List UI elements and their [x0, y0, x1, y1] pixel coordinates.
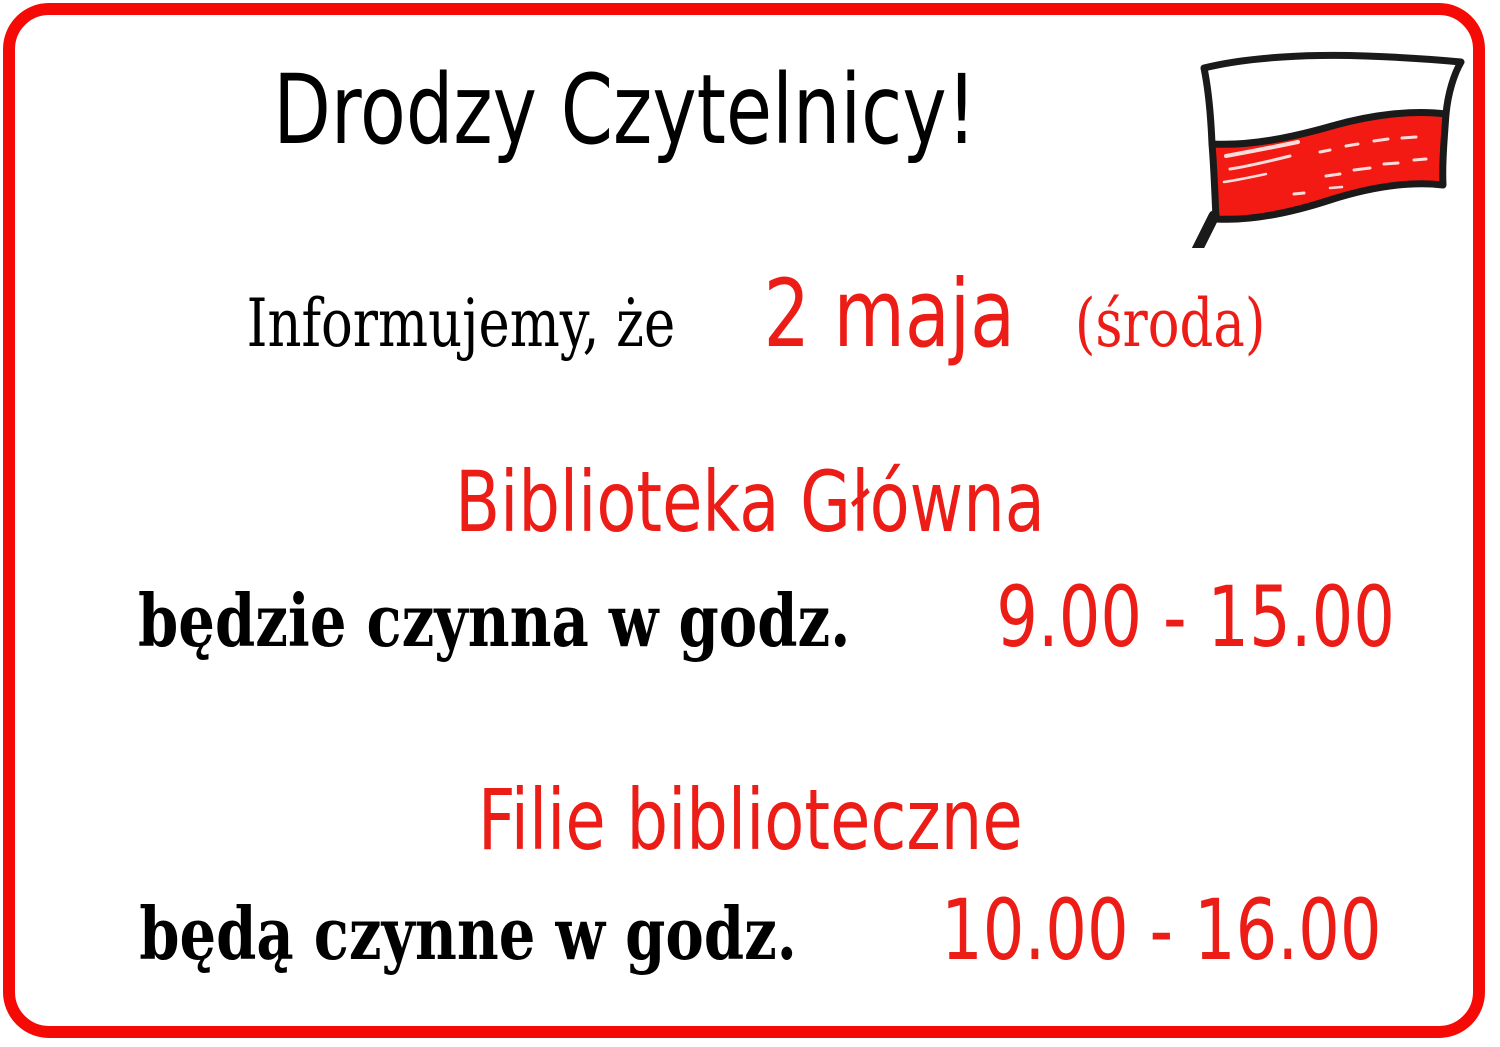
- branch-libraries-hours-prefix: będą czynne w godz.: [139, 898, 797, 970]
- announcement-line: Informujemy, że 2 maja (środa): [0, 268, 1500, 362]
- announcement-date: 2 maja: [764, 268, 1016, 362]
- page-title-text: Drodzy Czytelnicy!: [273, 62, 976, 158]
- branch-libraries-heading: Filie biblioteczne: [0, 778, 1500, 862]
- page-title: Drodzy Czytelnicy!: [0, 62, 1500, 158]
- main-library-hours-value: 9.00 - 15.00: [996, 575, 1395, 659]
- poster-content: Drodzy Czytelnicy! Informujemy, że 2 maj…: [0, 0, 1500, 1047]
- main-library-hours-prefix: będzie czynna w godz.: [138, 585, 850, 657]
- announcement-poster: Drodzy Czytelnicy! Informujemy, że 2 maj…: [0, 0, 1500, 1047]
- branch-libraries-name: Filie biblioteczne: [478, 778, 1023, 862]
- branch-libraries-hours-value: 10.00 - 16.00: [941, 888, 1381, 972]
- main-library-name: Biblioteka Główna: [455, 460, 1045, 544]
- branch-libraries-hours-line: będą czynne w godz. 10.00 - 16.00: [0, 888, 1500, 972]
- announcement-prefix: Informujemy, że: [246, 291, 675, 357]
- announcement-weekday: (środa): [1075, 291, 1266, 357]
- main-library-heading: Biblioteka Główna: [0, 460, 1500, 544]
- main-library-hours-line: będzie czynna w godz. 9.00 - 15.00: [0, 575, 1500, 659]
